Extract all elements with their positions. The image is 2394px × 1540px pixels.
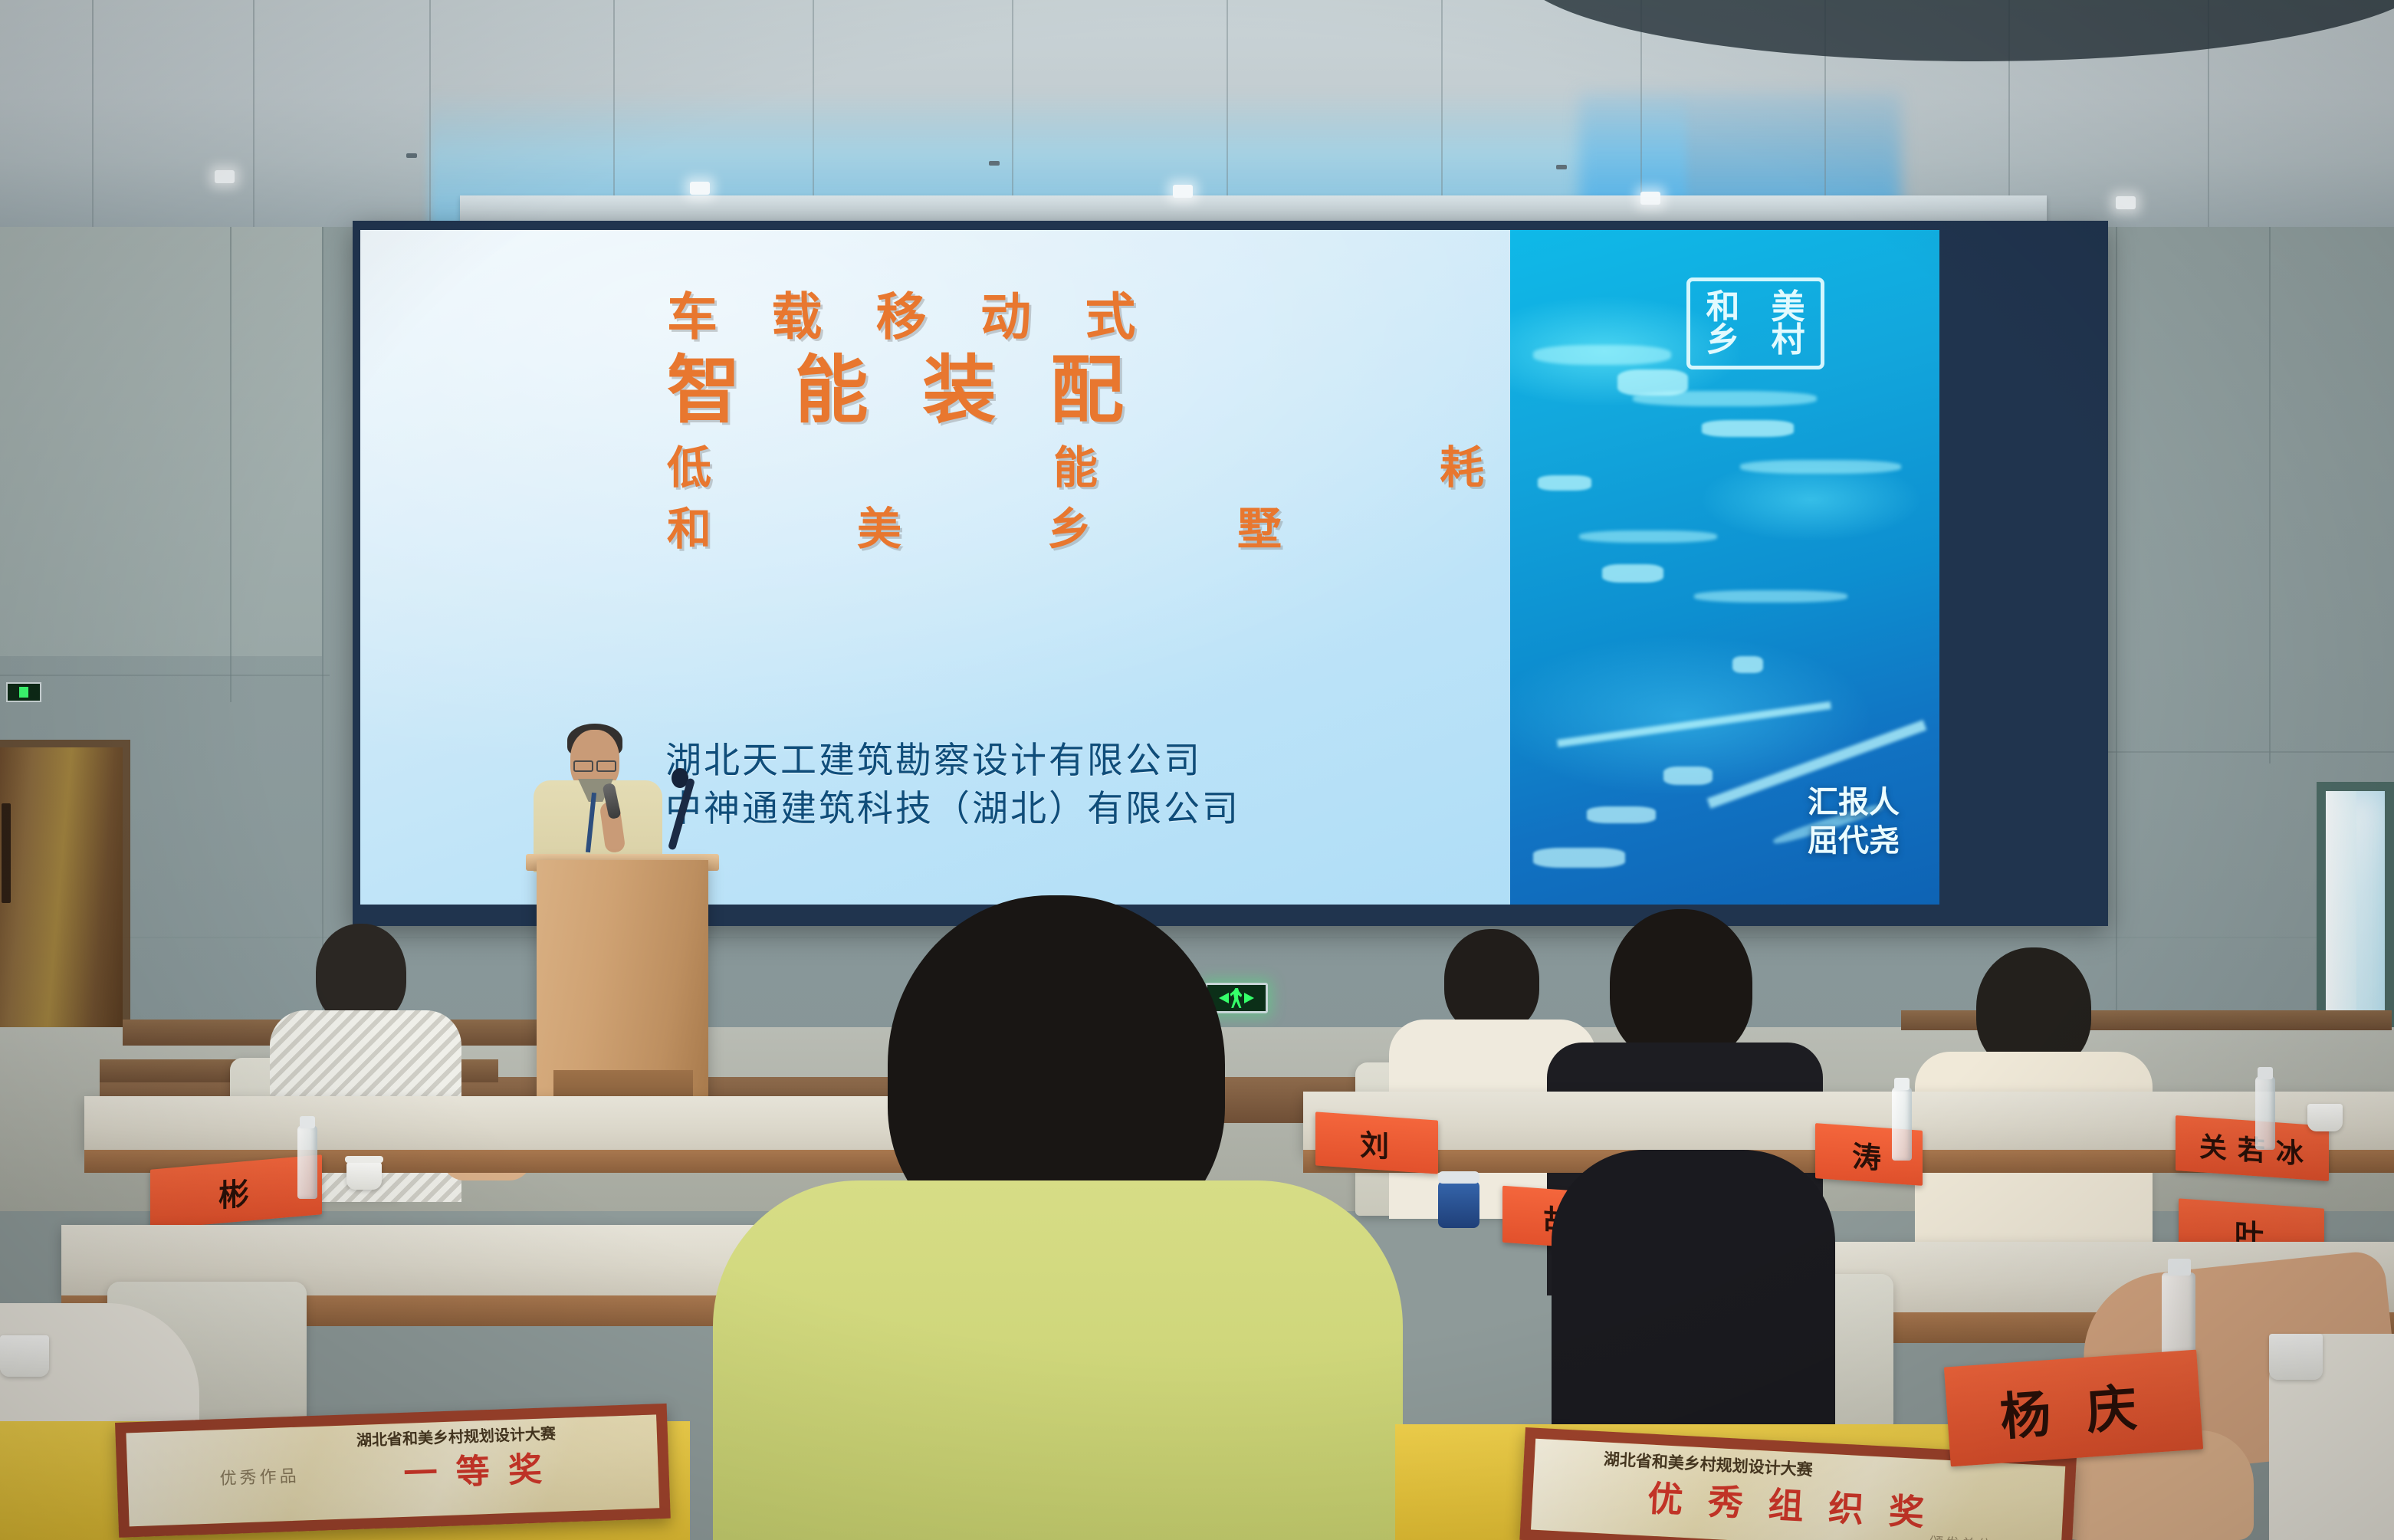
tea-cup — [0, 1335, 49, 1377]
name-placard: 刘 — [1315, 1111, 1438, 1174]
ceiling-arc-shadow — [1518, 0, 2394, 61]
aerial-village-photo: 和 美 乡 村 汇报人 屈代尧 — [1510, 230, 1939, 905]
ceiling-downlight — [690, 182, 710, 195]
audience-head — [1444, 929, 1539, 1033]
slide-company-block: 湖北天工建筑勘察设计有限公司 中神通建筑科技（湖北）有限公司 — [665, 736, 1240, 833]
tea-cup — [2269, 1334, 2323, 1380]
bottle-cap — [2168, 1259, 2191, 1276]
name-placard: 杨 庆 — [1944, 1350, 2203, 1467]
speaker-glasses — [573, 760, 616, 769]
emergency-light-icon — [6, 682, 41, 702]
logo-char-1: 和 — [1690, 291, 1755, 323]
ceiling-vent — [1556, 165, 1567, 169]
thermos-cap — [1438, 1171, 1479, 1184]
presenter-label: 汇报人 — [1808, 783, 1900, 822]
speaker-podium — [537, 860, 708, 1098]
slide-title-line-2: 智 能 装 配 — [667, 350, 1587, 432]
logo-char-4: 村 — [1755, 323, 1821, 356]
slide-title-line-1: 车 载 移 动 式 — [667, 291, 1587, 342]
foreground-person-torso — [713, 1180, 1403, 1540]
bottle-cap — [1894, 1078, 1910, 1090]
name-placard: 关 若 冰 — [2176, 1115, 2329, 1181]
ceiling-vent — [406, 153, 417, 158]
tea-cup-lid — [345, 1156, 383, 1163]
tea-cup — [346, 1162, 382, 1190]
certificate-subtext: 优秀作品 — [219, 1463, 300, 1490]
ceiling-vent — [989, 161, 1000, 166]
window-curtain — [2326, 791, 2356, 1021]
certificate-award-name: 一 等 奖 — [402, 1441, 547, 1495]
company-line-2: 中神通建筑科技（湖北）有限公司 — [665, 784, 1240, 832]
bottle-cap — [300, 1116, 315, 1128]
water-bottle — [297, 1125, 317, 1199]
ceiling-downlight — [215, 170, 235, 183]
presenter-name: 屈代尧 — [1808, 822, 1900, 860]
water-bottle — [2255, 1076, 2275, 1150]
ceiling-downlight — [2116, 196, 2136, 209]
bottle-cap — [2258, 1067, 2273, 1079]
presenter-block: 汇报人 屈代尧 — [1808, 783, 1900, 860]
award-certificate[interactable]: 湖北省和美乡村规划设计大赛 一 等 奖 优秀作品 — [115, 1404, 671, 1538]
conference-hall-photo: 车 载 移 动 式 智 能 装 配 低 能 耗 和 美 乡 墅 湖北天工建筑勘察… — [0, 0, 2394, 1540]
logo-char-3: 乡 — [1690, 323, 1755, 356]
audience-person-torso — [1552, 1150, 1835, 1441]
door-handle-slot — [2, 803, 11, 903]
hemei-xiangcun-logo: 和 美 乡 村 — [1686, 277, 1824, 369]
slide-title-line-4: 和 美 乡 墅 — [667, 507, 1587, 552]
audience-table-far — [84, 1096, 989, 1153]
ceiling-downlight — [1173, 185, 1193, 198]
slide-title-line-3: 低 能 耗 — [667, 446, 1587, 491]
running-man-icon — [1229, 988, 1244, 1008]
logo-char-2: 美 — [1755, 291, 1821, 323]
audience-head — [1610, 909, 1752, 1062]
stage-step-right — [1901, 1010, 2392, 1030]
ceiling-downlight — [1640, 192, 1660, 205]
water-bottle — [1892, 1087, 1912, 1161]
company-line-1: 湖北天工建筑勘察设计有限公司 — [665, 736, 1240, 784]
slide-title: 车 载 移 动 式 智 能 装 配 低 能 耗 和 美 乡 墅 — [667, 291, 1587, 552]
exit-arrow-right-icon — [1244, 993, 1256, 1003]
exit-arrow-left-icon — [1217, 993, 1229, 1003]
back-wall-left-bay — [0, 227, 322, 656]
thermos-flask — [1438, 1180, 1479, 1228]
hall-door[interactable] — [0, 747, 123, 1054]
tea-cup — [2307, 1104, 2343, 1131]
